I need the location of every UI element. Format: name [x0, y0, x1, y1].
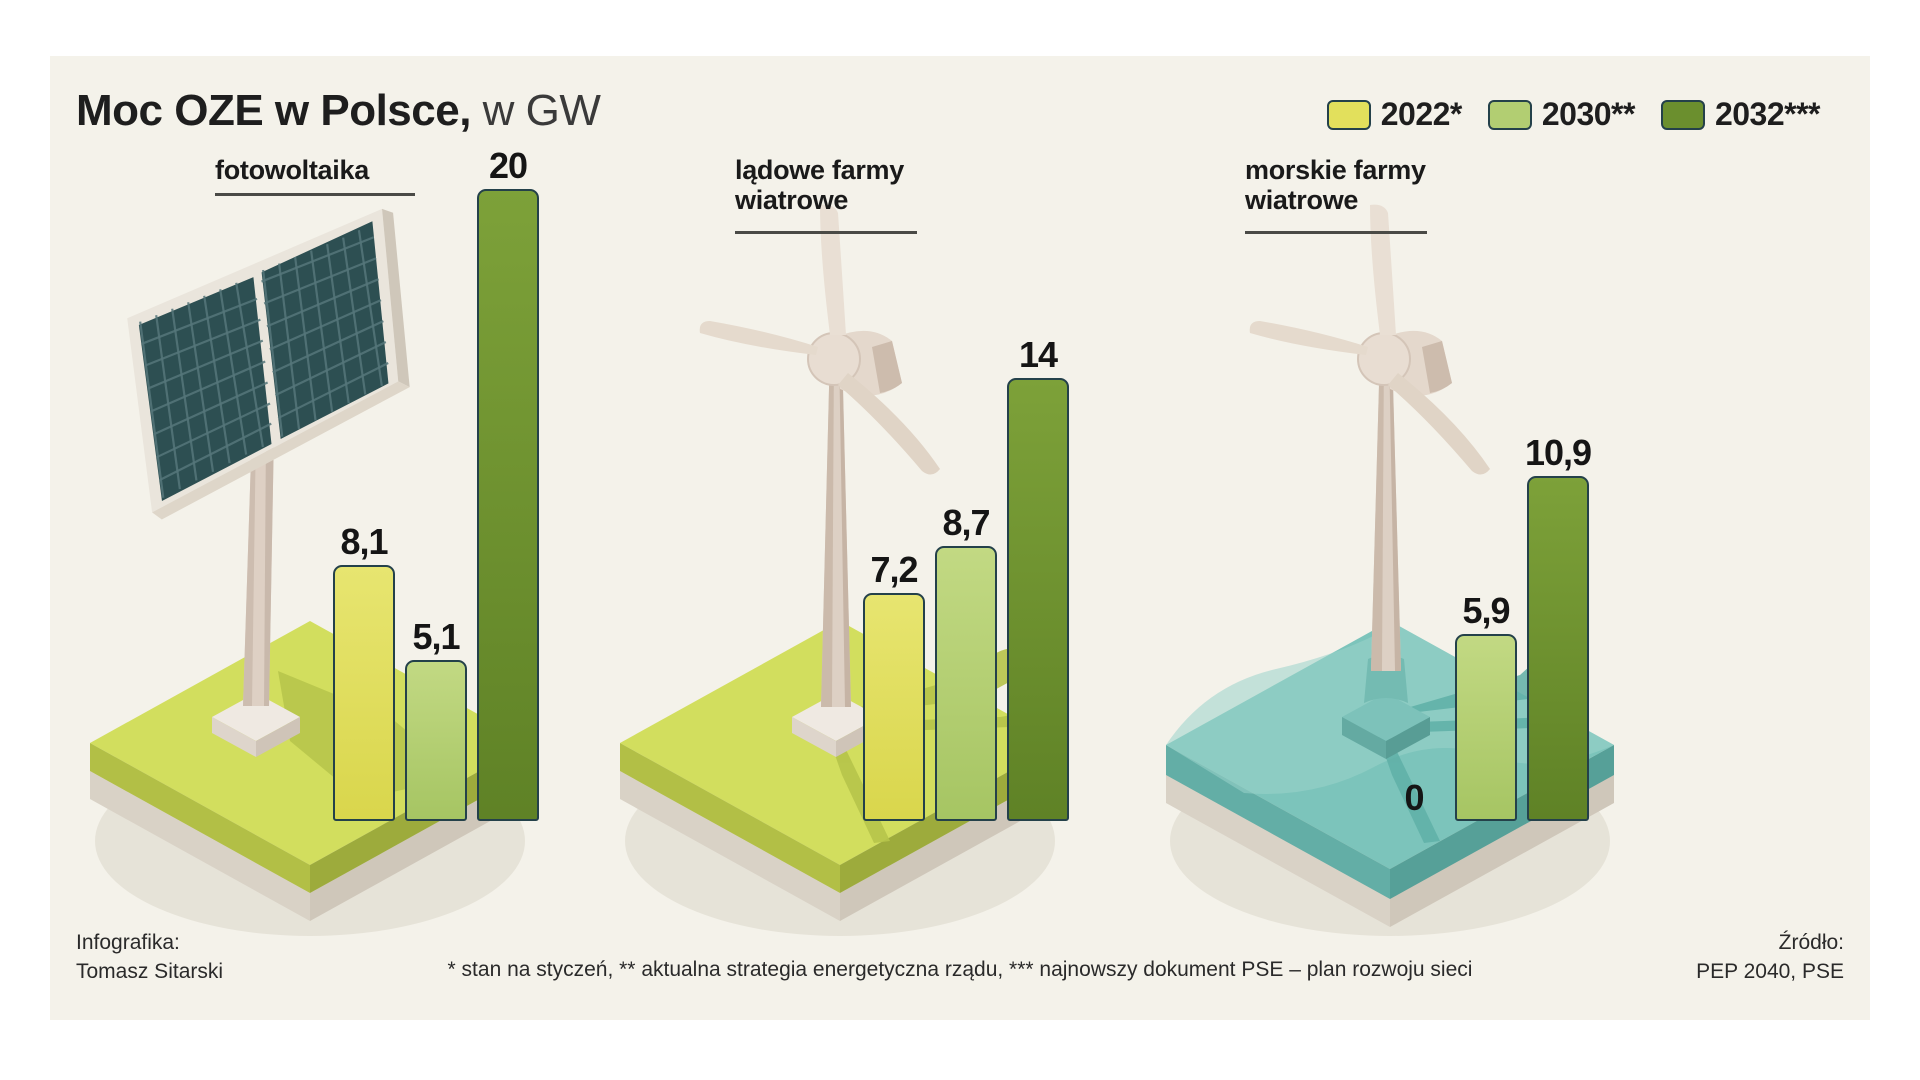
credit-line-1: Infografika: [76, 929, 223, 957]
bar-2030[interactable] [935, 546, 997, 821]
legend-label-2022: 2022* [1381, 96, 1462, 133]
page-title: Moc OZE w Polsce, w GW [76, 86, 600, 136]
source-line-2: PEP 2040, PSE [1696, 958, 1844, 986]
bar-2032[interactable] [477, 189, 539, 821]
bar-value-2022: 0 [1404, 780, 1423, 816]
bar-value-2030: 8,7 [942, 505, 989, 541]
infographic-panel: Moc OZE w Polsce, w GW 2022* 2030** 2032… [50, 56, 1870, 1020]
category-rule-ladowe [735, 231, 917, 234]
bar-value-2030: 5,1 [412, 619, 459, 655]
bar-group-ladowe: 7,2 8,7 14 [863, 337, 1069, 821]
category-rule-morskie [1245, 231, 1427, 234]
legend: 2022* 2030** 2032*** [1327, 96, 1820, 133]
legend-label-2032: 2032*** [1715, 96, 1820, 133]
bar-value-2032: 10,9 [1525, 435, 1591, 471]
legend-swatch-2030 [1488, 100, 1532, 130]
bar-item-2022: 7,2 [863, 552, 925, 821]
chart-group-morskie-farmy-wiatrowe: morskie farmy wiatrowe 0 5,9 10,9 [1130, 151, 1690, 951]
chart-group-ladowe-farmy-wiatrowe: lądowe farmy wiatrowe 7,2 8,7 14 [590, 151, 1110, 951]
legend-label-2030: 2030** [1542, 96, 1635, 133]
bar-item-2030: 8,7 [935, 505, 997, 821]
source: Źródło: PEP 2040, PSE [1696, 929, 1844, 986]
chart-group-fotowoltaika: fotowoltaika 8,1 5,1 20 [60, 151, 580, 951]
bar-value-2030: 5,9 [1462, 593, 1509, 629]
bar-item-2032: 20 [477, 148, 539, 821]
bar-item-2032: 14 [1007, 337, 1069, 821]
bar-item-2022: 8,1 [333, 524, 395, 821]
legend-item-2030: 2030** [1488, 96, 1635, 133]
bar-group-fotowoltaika: 8,1 5,1 20 [333, 148, 539, 821]
bar-2022[interactable] [863, 593, 925, 821]
footnotes: * stan na styczeń, ** aktualna strategia… [50, 958, 1870, 982]
source-line-1: Źródło: [1696, 929, 1844, 957]
bar-2030[interactable] [405, 660, 467, 821]
bar-item-2030: 5,1 [405, 619, 467, 821]
bar-value-2032: 14 [1019, 337, 1057, 373]
bar-2030[interactable] [1455, 634, 1517, 821]
bar-group-morskie: 0 5,9 10,9 [1383, 435, 1589, 821]
bar-2032[interactable] [1007, 378, 1069, 821]
bar-item-2032: 10,9 [1527, 435, 1589, 821]
legend-item-2022: 2022* [1327, 96, 1462, 133]
legend-swatch-2022 [1327, 100, 1371, 130]
bar-item-2030: 5,9 [1455, 593, 1517, 821]
title-normal: w GW [471, 86, 600, 135]
legend-item-2032: 2032*** [1661, 96, 1820, 133]
bar-value-2032: 20 [489, 148, 527, 184]
bar-value-2022: 8,1 [340, 524, 387, 560]
legend-swatch-2032 [1661, 100, 1705, 130]
bar-value-2022: 7,2 [870, 552, 917, 588]
bar-2022[interactable] [333, 565, 395, 821]
category-label-ladowe: lądowe farmy wiatrowe [735, 155, 995, 215]
bar-2032[interactable] [1527, 476, 1589, 821]
category-label-morskie: morskie farmy wiatrowe [1245, 155, 1515, 215]
title-bold: Moc OZE w Polsce, [76, 86, 471, 135]
bar-item-2022: 0 [1383, 780, 1445, 821]
